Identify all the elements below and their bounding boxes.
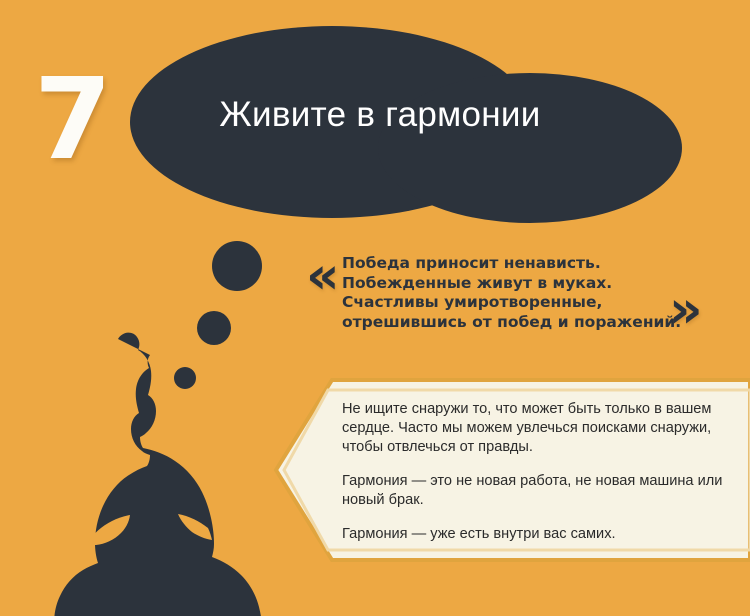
body-paragraph-2: Гармония — это не новая работа, не новая…	[342, 472, 732, 510]
body-paragraph-3: Гармония — уже есть внутри вас самих.	[342, 525, 732, 544]
body-text-box: Не ищите снаружи то, что может быть толь…	[270, 378, 750, 562]
step-number: 7	[16, 60, 126, 180]
page-title: Живите в гармонии	[130, 95, 630, 135]
quote-line-1: Победа приносит ненависть.	[342, 254, 702, 274]
quote-line-4: отрешившись от побед и поражений.	[342, 313, 702, 333]
thought-dot-large	[212, 241, 262, 291]
quote-line-2: Побежденные живут в муках.	[342, 274, 702, 294]
body-paragraphs: Не ищите снаружи то, что может быть толь…	[342, 400, 732, 544]
quote-line-3: Счастливы умиротворенные,	[342, 293, 702, 313]
quote-block: « Победа приносит ненависть. Побежденные…	[306, 248, 726, 348]
quote-close-icon: »	[669, 284, 703, 336]
body-paragraph-1: Не ищите снаружи то, что может быть толь…	[342, 400, 732, 457]
meditating-buddha-silhouette	[30, 330, 280, 616]
infographic-poster: 7 Живите в гармонии Не ищите снаружи то,…	[0, 0, 750, 616]
quote-open-icon: «	[306, 250, 340, 302]
quote-text: Победа приносит ненависть. Побежденные ж…	[342, 254, 702, 332]
